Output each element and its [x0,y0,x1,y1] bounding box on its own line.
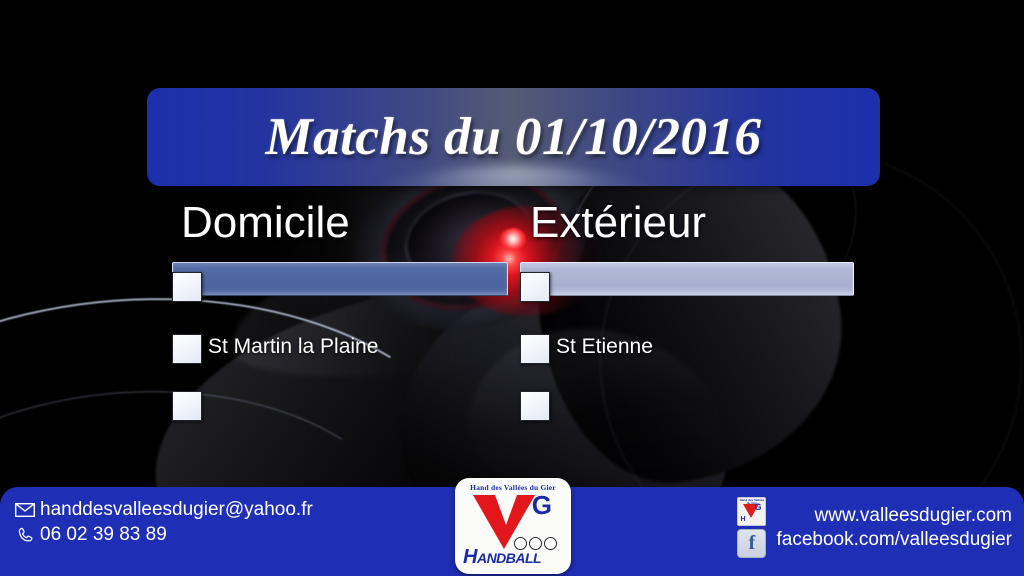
facebook-icon[interactable]: f [737,529,766,558]
checkbox-home-row-3[interactable] [172,391,202,421]
row-label-away-2: St Etienne [556,335,653,359]
footer-email-row[interactable]: handdesvalleesdugier@yahoo.fr [14,499,313,521]
facebook-icon-letter: f [749,533,756,553]
checkbox-away-row-2[interactable] [520,334,550,364]
club-logo-v-cutout [495,495,517,525]
footer-social-icons: Hand des Vallées du Gier G H f [737,497,766,558]
club-logo-wordmark-rest: ANDBALL [477,550,541,566]
checkbox-away-row-3[interactable] [520,391,550,421]
column-header-away: Extérieur [530,198,706,248]
club-logo-mini-letter-g: G [754,503,761,512]
footer-website-link[interactable]: www.valleesdugier.com [815,505,1012,527]
footer-email-text: handdesvalleesdugier@yahoo.fr [40,499,313,521]
phone-icon [14,525,36,545]
presentation-slide: Matchs du 01/10/2016 Domicile Extérieur … [0,0,1024,576]
footer-contact-block: handdesvalleesdugier@yahoo.fr 06 02 39 8… [14,499,313,546]
footer-facebook-link[interactable]: facebook.com/valleesdugier [776,529,1012,551]
club-logo-wordmark: HANDBALL [463,547,541,568]
footer-links: www.valleesdugier.com facebook.com/valle… [776,505,1012,551]
page-title: Matchs du 01/10/2016 [266,107,762,167]
club-logo: Hand des Vallées du Gier G HANDBALL [455,478,571,574]
checkbox-home-row-2[interactable] [172,334,202,364]
envelope-icon [14,500,36,520]
background-light-streak-glow [687,0,1024,1]
footer-web-block: Hand des Vallées du Gier G H f www.valle… [737,497,1012,558]
club-logo-mini-icon[interactable]: Hand des Vallées du Gier G H [737,497,766,526]
row-label-home-2: St Martin la Plaine [208,335,378,359]
checkbox-away-row-1[interactable] [520,272,550,302]
club-logo-wordmark-initial: H [463,546,477,568]
checkbox-home-row-1[interactable] [172,272,202,302]
selection-bar-home[interactable] [172,262,508,296]
column-header-home: Domicile [181,198,350,248]
club-logo-letter-g: G [532,492,552,518]
club-logo-ball [544,537,557,550]
background-red-core [500,228,526,250]
title-banner: Matchs du 01/10/2016 [147,88,880,186]
footer-phone-text: 06 02 39 83 89 [40,524,167,546]
club-logo-top-text: Hand des Vallées du Gier [455,483,571,492]
selection-bar-away[interactable] [520,262,854,296]
footer-phone-row[interactable]: 06 02 39 83 89 [14,524,313,546]
club-logo-mini-letter-h: H [740,516,745,523]
